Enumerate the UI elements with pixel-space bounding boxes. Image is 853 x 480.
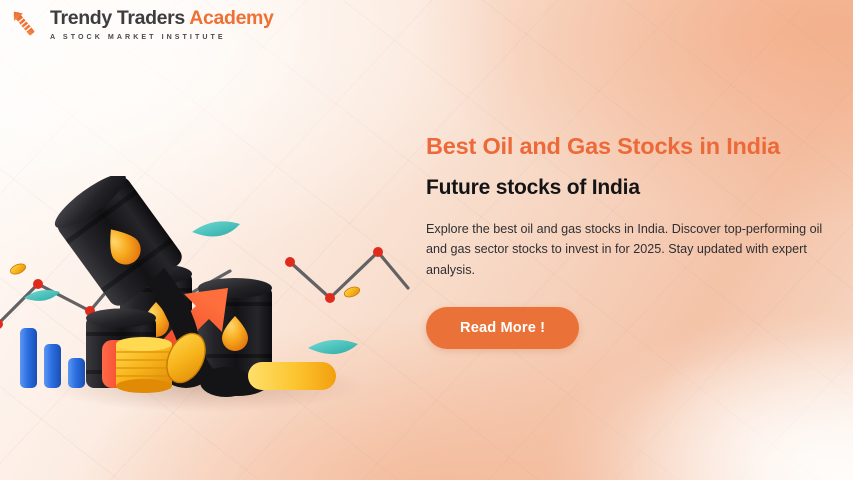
page-subtitle: Future stocks of India bbox=[426, 175, 834, 200]
hero-copy-block: Best Oil and Gas Stocks in India Future … bbox=[426, 132, 834, 349]
logo-name-accent: Academy bbox=[189, 7, 273, 29]
blue-bar-chart bbox=[20, 328, 85, 388]
logo-name-primary: Trendy Traders bbox=[50, 7, 185, 29]
logo-text-block: Trendy Traders Academy A STOCK MARKET IN… bbox=[50, 7, 274, 41]
page-title: Best Oil and Gas Stocks in India bbox=[426, 132, 834, 161]
logo-tagline: A STOCK MARKET INSTITUTE bbox=[50, 34, 274, 41]
read-more-button[interactable]: Read More ! bbox=[426, 307, 579, 349]
logo-title: Trendy Traders Academy bbox=[50, 9, 274, 29]
yellow-capsule bbox=[248, 362, 336, 390]
oil-and-gas-investment-illustration bbox=[0, 176, 420, 426]
trending-up-arrow-icon bbox=[8, 6, 42, 42]
hero-description: Explore the best oil and gas stocks in I… bbox=[426, 219, 830, 280]
hero-banner: Trendy Traders Academy A STOCK MARKET IN… bbox=[0, 0, 853, 480]
site-logo[interactable]: Trendy Traders Academy A STOCK MARKET IN… bbox=[8, 6, 274, 42]
